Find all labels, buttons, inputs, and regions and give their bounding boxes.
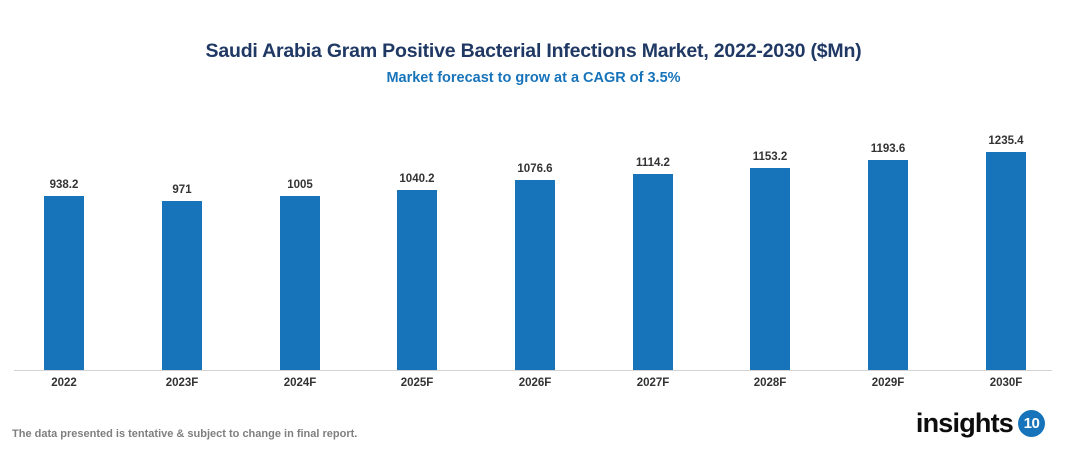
x-axis-tick-label: 2029F	[838, 377, 938, 389]
bar-value-label: 1040.2	[375, 173, 459, 185]
bar-value-label: 971	[140, 184, 224, 196]
logo-wordmark: insights	[916, 408, 1013, 438]
bar[interactable]	[986, 152, 1026, 370]
bar-value-label: 1235.4	[964, 135, 1048, 147]
bar[interactable]	[868, 160, 908, 370]
chart-page: Saudi Arabia Gram Positive Bacterial Inf…	[0, 0, 1067, 454]
bar-value-label: 1114.2	[611, 157, 695, 169]
x-axis-tick-label: 2027F	[603, 377, 703, 389]
insights10-logo: insights 10	[916, 406, 1045, 440]
bar[interactable]	[44, 196, 84, 370]
bar-group: 1040.22025F	[397, 0, 437, 454]
disclaimer-note: The data presented is tentative & subjec…	[12, 428, 357, 440]
x-axis-tick-label: 2025F	[367, 377, 467, 389]
bar-group: 9712023F	[162, 0, 202, 454]
logo-badge-icon: 10	[1018, 410, 1045, 437]
bar-group: 1193.62029F	[868, 0, 908, 454]
bar-value-label: 1153.2	[728, 151, 812, 163]
bar-group: 10052024F	[280, 0, 320, 454]
bar[interactable]	[515, 180, 555, 370]
bar-chart-plot: 938.220229712023F10052024F1040.22025F107…	[0, 0, 1067, 454]
x-axis-tick-label: 2024F	[250, 377, 350, 389]
bar-value-label: 1076.6	[493, 163, 577, 175]
bar[interactable]	[397, 190, 437, 370]
bar-group: 1235.42030F	[986, 0, 1026, 454]
x-axis-tick-label: 2022	[14, 377, 114, 389]
x-axis-tick-label: 2028F	[720, 377, 820, 389]
bar-value-label: 938.2	[22, 179, 106, 191]
bar-group: 938.22022	[44, 0, 84, 454]
bar[interactable]	[162, 201, 202, 370]
bar-group: 1153.22028F	[750, 0, 790, 454]
bar-group: 1076.62026F	[515, 0, 555, 454]
x-axis-tick-label: 2026F	[485, 377, 585, 389]
bar-value-label: 1193.6	[846, 143, 930, 155]
bar-value-label: 1005	[258, 179, 342, 191]
bar[interactable]	[633, 174, 673, 370]
x-axis-tick-label: 2030F	[956, 377, 1056, 389]
bar[interactable]	[280, 196, 320, 370]
x-axis-tick-label: 2023F	[132, 377, 232, 389]
bar[interactable]	[750, 168, 790, 370]
bar-group: 1114.22027F	[633, 0, 673, 454]
